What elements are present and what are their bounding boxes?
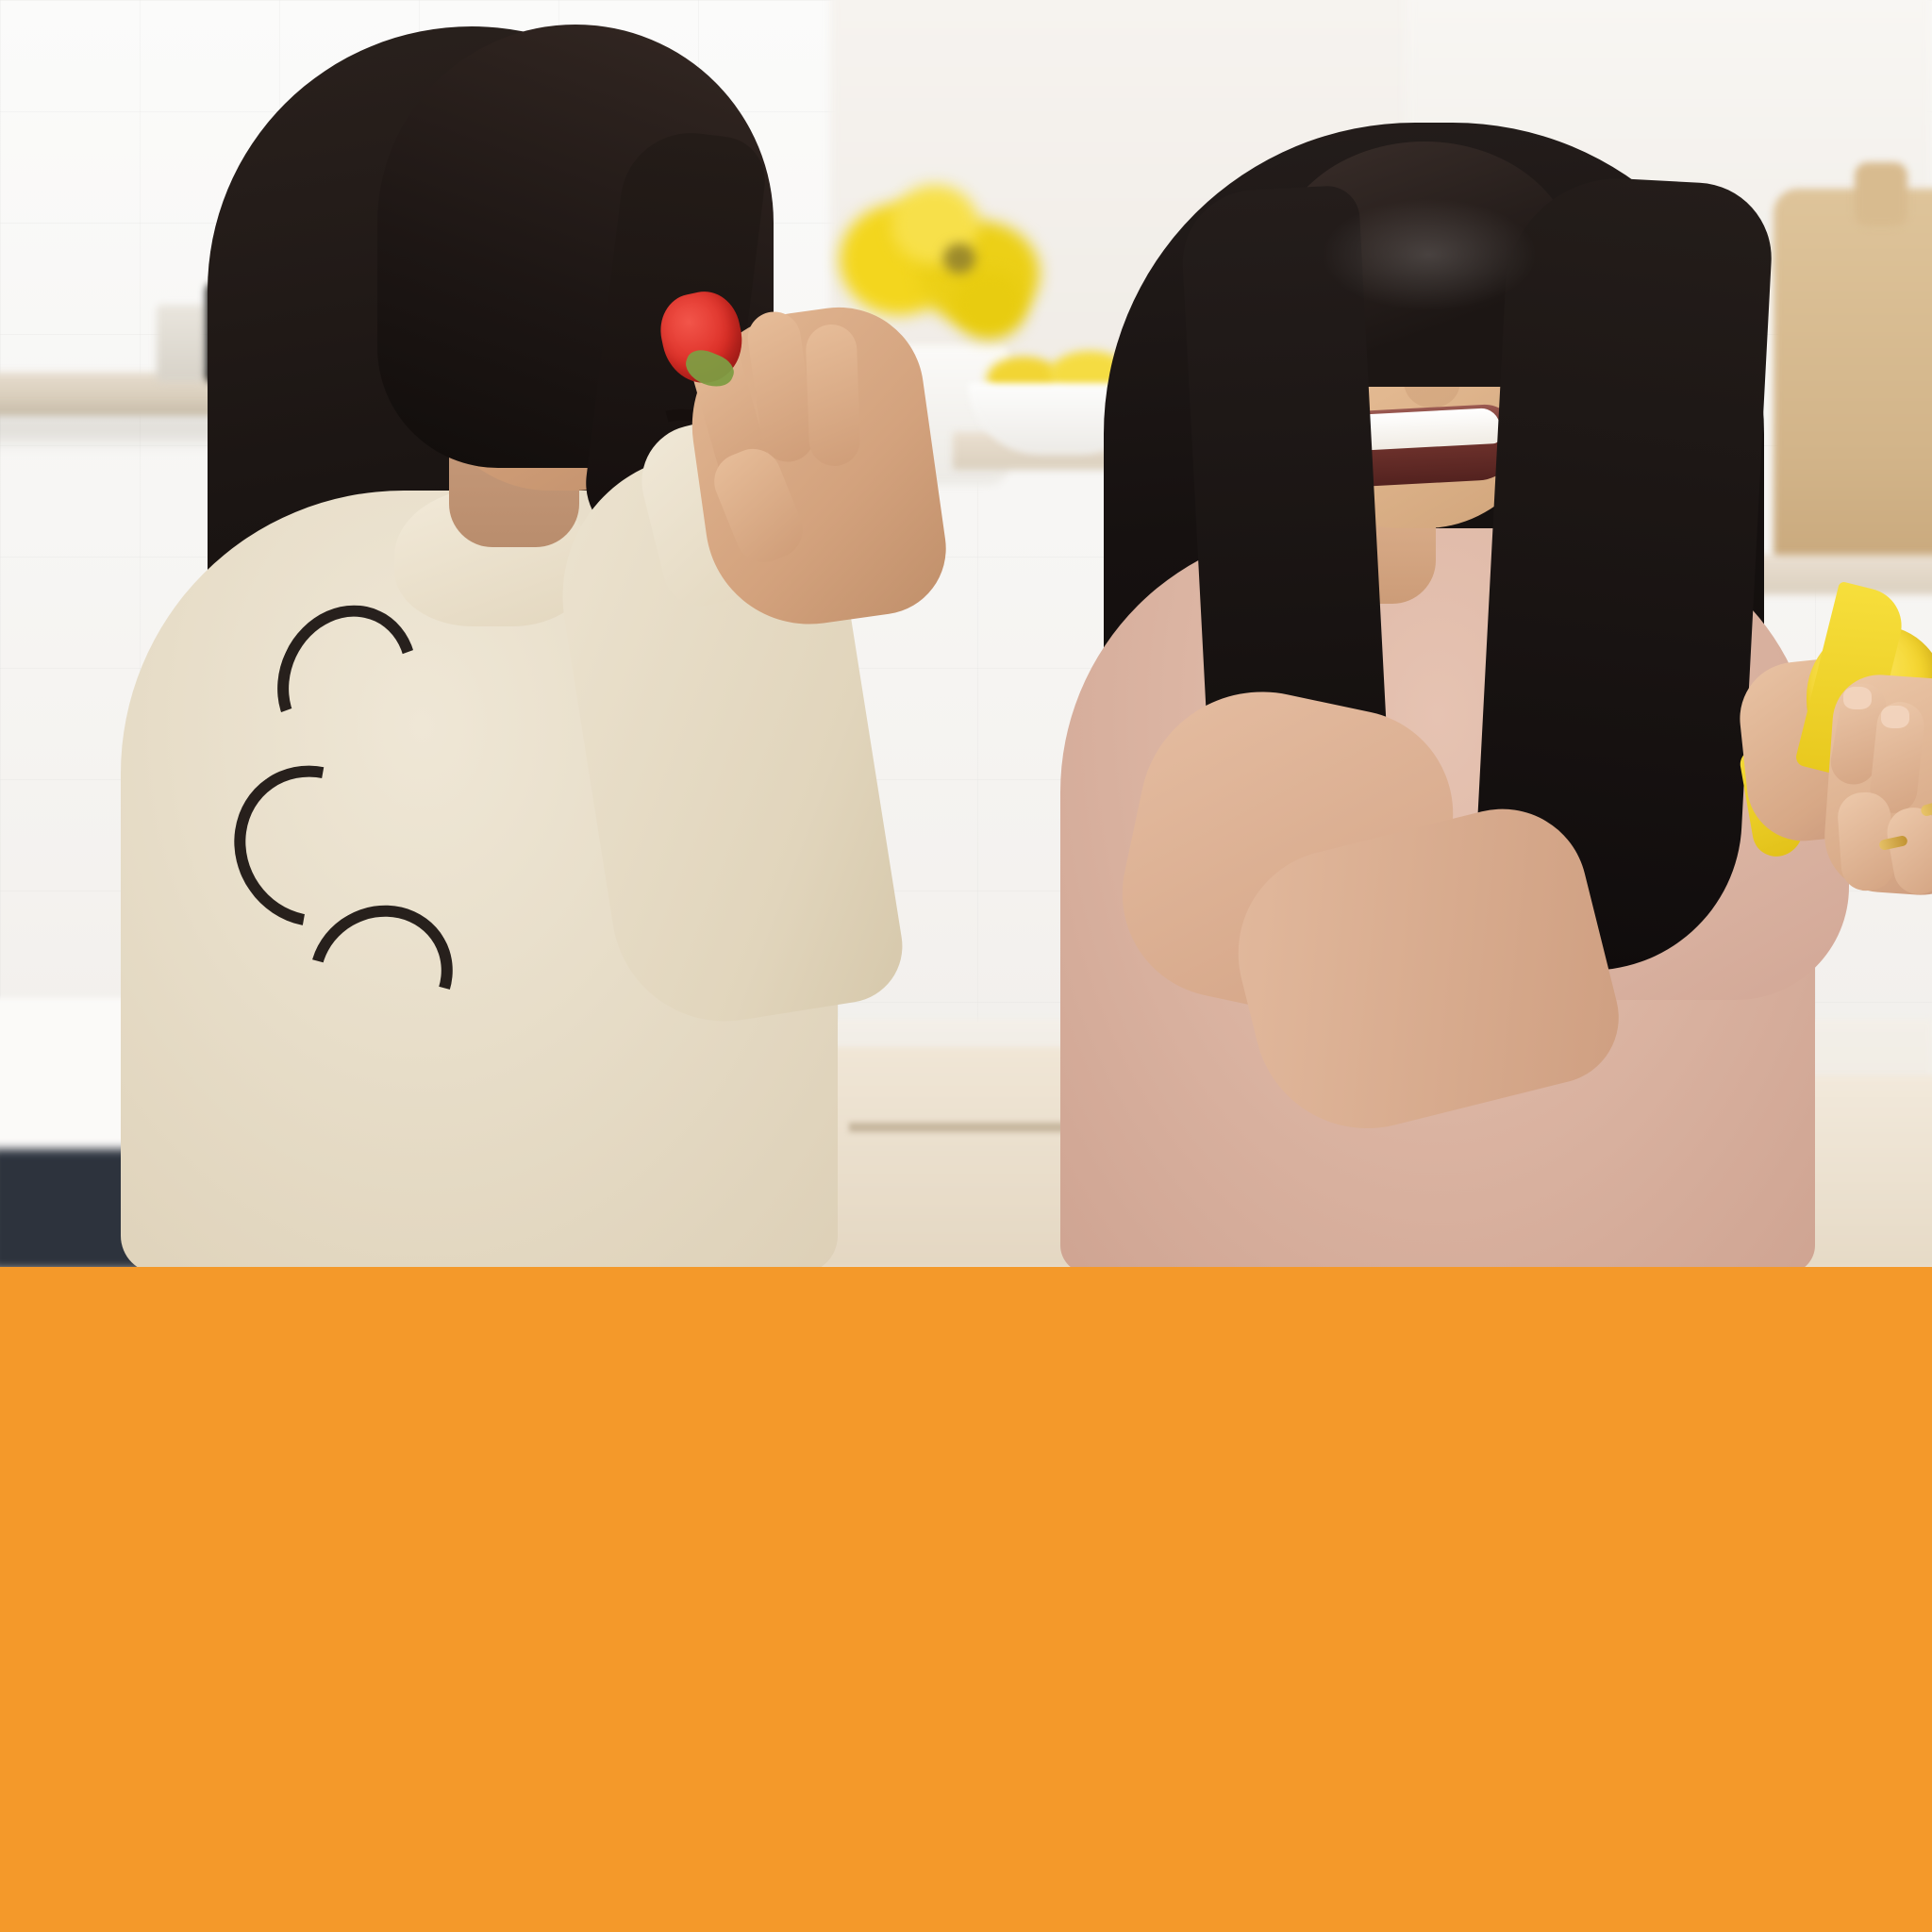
lifestyle-photo (0, 0, 1932, 1267)
woman-right-fingernail-1 (1843, 687, 1872, 709)
vitamin-c-gummies-promo-banner: KEEP YOUR FAMILY HEALTHY YEAR-ROUND Vita… (0, 0, 1932, 1932)
woman-left-finger-3 (805, 324, 860, 467)
woman-left (94, 0, 1038, 1267)
woman-right (962, 0, 1932, 1267)
woman-right-fingernail-2 (1881, 706, 1909, 728)
orange-message-banner: KEEP YOUR FAMILY HEALTHY YEAR-ROUND Vita… (0, 1267, 1932, 1932)
woman-right-hair-sheen (1321, 198, 1538, 311)
